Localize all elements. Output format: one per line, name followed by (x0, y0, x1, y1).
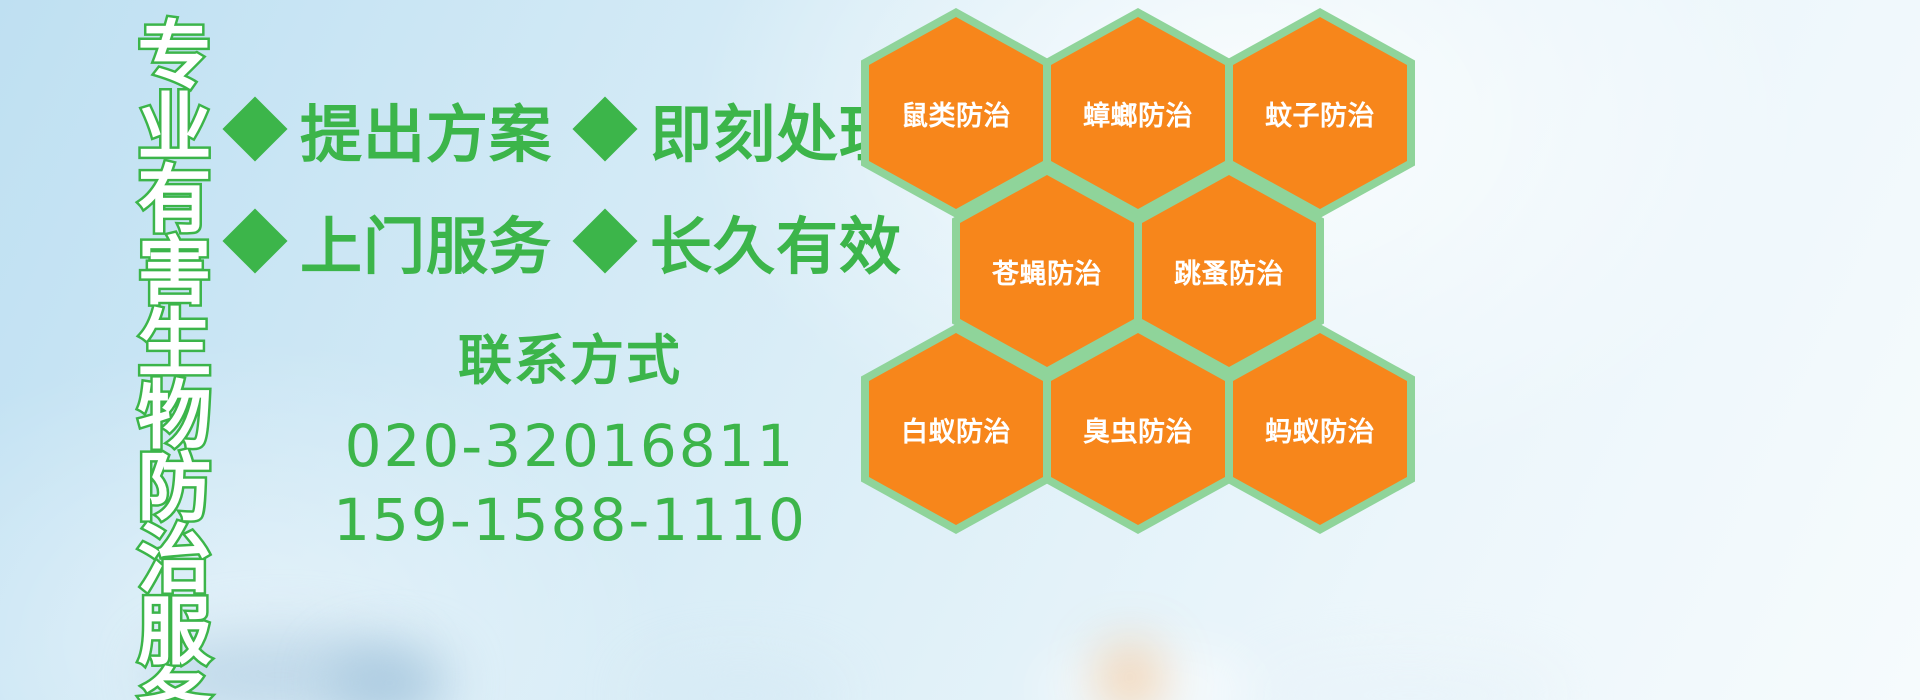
hex-label: 臭虫防治 (1083, 410, 1193, 449)
hex-label: 蟑螂防治 (1083, 94, 1193, 133)
vertical-headline: 专业有害生物防治服务 (108, 16, 204, 700)
feature-label: 提出方案 (300, 84, 552, 174)
background-bokeh-blob (330, 648, 450, 700)
background-bokeh-blob (1260, 660, 1560, 700)
hex-inner: 蚂蚁防治 (1233, 333, 1407, 525)
feature-item-door-to-door-service: 上门服务 (232, 196, 552, 286)
phone-number-landline[interactable]: 020-32016811 (310, 409, 830, 483)
hex-inner: 白蚁防治 (869, 333, 1043, 525)
hex-label: 白蚁防治 (901, 410, 1011, 449)
hex-inner: 臭虫防治 (1051, 333, 1225, 525)
diamond-bullet-icon (572, 96, 637, 161)
pest-control-banner: 专业有害生物防治服务 提出方案 即刻处理 上门服务 长久有效 联系方式 020-… (0, 0, 1920, 700)
hex-label: 苍蝇防治 (992, 252, 1102, 291)
background-bokeh-blob (1100, 645, 1160, 700)
phone-number-mobile[interactable]: 159-1588-1110 (310, 483, 830, 557)
diamond-bullet-icon (222, 208, 287, 273)
hex-label: 跳蚤防治 (1174, 252, 1284, 291)
diamond-bullet-icon (222, 96, 287, 161)
background-bokeh-blob (1040, 650, 1260, 700)
hex-label: 鼠类防治 (901, 94, 1011, 133)
feature-row-2: 上门服务 长久有效 (232, 196, 902, 286)
hex-inner: 鼠类防治 (869, 17, 1043, 209)
feature-row-1: 提出方案 即刻处理 (232, 84, 902, 174)
diamond-bullet-icon (572, 208, 637, 273)
hex-label: 蚂蚁防治 (1265, 410, 1375, 449)
feature-label: 上门服务 (300, 196, 552, 286)
hex-inner: 苍蝇防治 (960, 175, 1134, 367)
background-bokeh-blob (640, 660, 840, 700)
service-honeycomb-grid: 鼠类防治 蟑螂防治 蚊子防治 苍蝇防治 跳蚤防治 白蚁防治 (855, 0, 1455, 560)
hex-label: 蚊子防治 (1265, 94, 1375, 133)
hex-inner: 蟑螂防治 (1051, 17, 1225, 209)
hex-inner: 蚊子防治 (1233, 17, 1407, 209)
contact-label: 联系方式 (310, 316, 830, 395)
feature-item-propose-plan: 提出方案 (232, 84, 552, 174)
hex-inner: 跳蚤防治 (1142, 175, 1316, 367)
contact-block: 联系方式 020-32016811 159-1588-1110 (310, 316, 830, 557)
